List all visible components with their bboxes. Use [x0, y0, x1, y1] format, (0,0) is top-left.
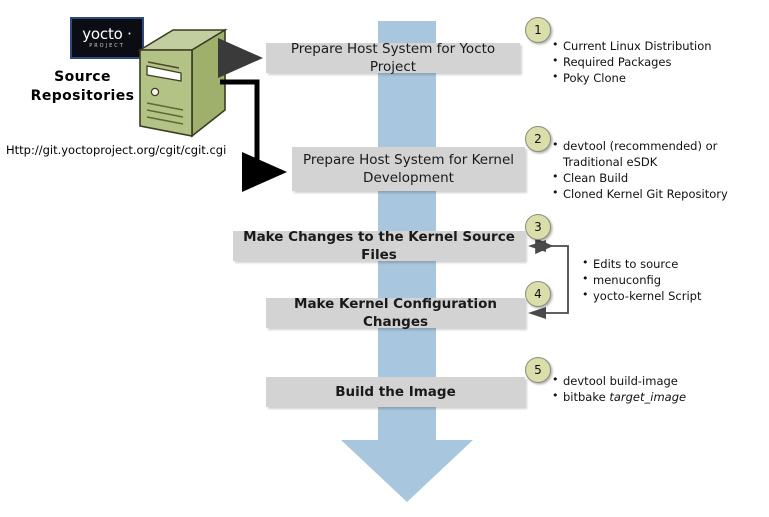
- note-item: Poky Clone: [552, 70, 712, 86]
- note-item: Required Packages: [552, 54, 712, 70]
- notes-kernel-loop: Edits to source menuconfig yocto-kernel …: [582, 256, 702, 304]
- process-box-step4[interactable]: Make Kernel Configuration Changes: [266, 298, 525, 328]
- notes-step2: devtool (recommended) or Traditional eSD…: [552, 138, 733, 202]
- step-badge-4: 4: [525, 281, 551, 307]
- notes-step1: Current Linux Distribution Required Pack…: [552, 38, 712, 86]
- workflow-diagram: yocto · PROJECT Source Repositories Http…: [0, 0, 769, 517]
- step-badge-1: 1: [525, 17, 551, 43]
- process-box-step2[interactable]: Prepare Host System for Kernel Developme…: [292, 147, 525, 191]
- note-item: devtool build-image: [552, 373, 686, 389]
- note-item: Edits to source: [582, 256, 702, 272]
- process-box-step3[interactable]: Make Changes to the Kernel Source Files: [233, 231, 525, 261]
- notes-step5: devtool build-image bitbake target_image: [552, 373, 686, 405]
- arrow-server-to-step2: [220, 82, 282, 172]
- note-command: bitbake: [563, 390, 609, 404]
- note-item: devtool (recommended) or Traditional eSD…: [552, 138, 733, 170]
- note-item: Cloned Kernel Git Repository: [552, 186, 733, 202]
- arrowhead-loop-into-step3: [528, 240, 546, 252]
- note-item: bitbake target_image: [552, 389, 686, 405]
- note-item: menuconfig: [582, 272, 702, 288]
- step-badge-2: 2: [525, 126, 551, 152]
- note-item: Clean Build: [552, 170, 733, 186]
- note-item: yocto-kernel Script: [582, 288, 702, 304]
- note-command-argument: target_image: [609, 390, 686, 404]
- note-item: Current Linux Distribution: [552, 38, 712, 54]
- arrowhead-loop-into-step4: [528, 307, 546, 319]
- process-box-step1[interactable]: Prepare Host System for Yocto Project: [266, 43, 520, 73]
- step-badge-5: 5: [525, 357, 551, 383]
- step-badge-3: 3: [525, 214, 551, 240]
- process-box-step5[interactable]: Build the Image: [266, 377, 525, 407]
